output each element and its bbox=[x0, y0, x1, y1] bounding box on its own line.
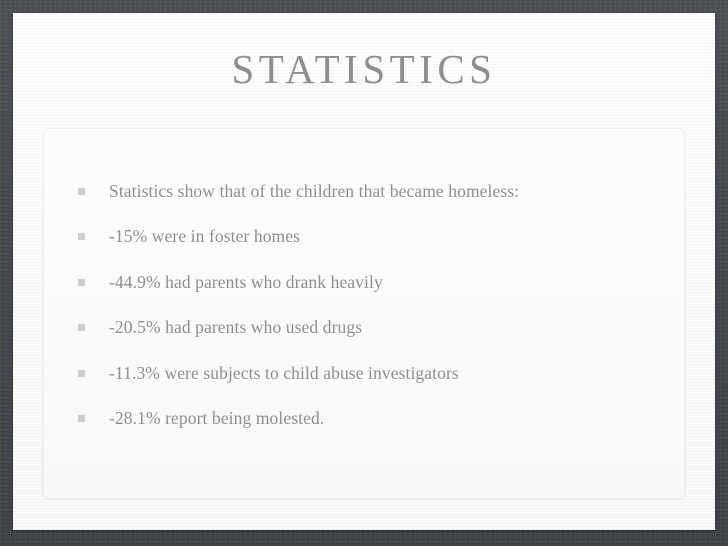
square-bullet-icon bbox=[78, 279, 85, 286]
slide-canvas: STATISTICS Statistics show that of the c… bbox=[13, 13, 715, 530]
list-item: -11.3% were subjects to child abuse inve… bbox=[78, 361, 668, 385]
slide-outer-frame: STATISTICS Statistics show that of the c… bbox=[0, 0, 728, 546]
bullet-text: -15% were in foster homes bbox=[109, 224, 300, 248]
square-bullet-icon bbox=[78, 415, 85, 422]
bullet-text: Statistics show that of the children tha… bbox=[109, 179, 519, 203]
list-item: -15% were in foster homes bbox=[78, 224, 668, 248]
square-bullet-icon bbox=[78, 233, 85, 240]
bullet-text: -44.9% had parents who drank heavily bbox=[109, 270, 383, 294]
slide-title: STATISTICS bbox=[13, 49, 715, 90]
square-bullet-icon bbox=[78, 324, 85, 331]
list-item: -28.1% report being molested. bbox=[78, 406, 668, 430]
list-item: -20.5% had parents who used drugs bbox=[78, 315, 668, 339]
square-bullet-icon bbox=[78, 188, 85, 195]
slide-content-box: Statistics show that of the children tha… bbox=[43, 128, 685, 499]
bullet-text: -20.5% had parents who used drugs bbox=[109, 315, 362, 339]
bullet-text: -28.1% report being molested. bbox=[109, 406, 324, 430]
bullet-text: -11.3% were subjects to child abuse inve… bbox=[109, 361, 459, 385]
list-item: Statistics show that of the children tha… bbox=[78, 179, 668, 203]
square-bullet-icon bbox=[78, 370, 85, 377]
list-item: -44.9% had parents who drank heavily bbox=[78, 270, 668, 294]
